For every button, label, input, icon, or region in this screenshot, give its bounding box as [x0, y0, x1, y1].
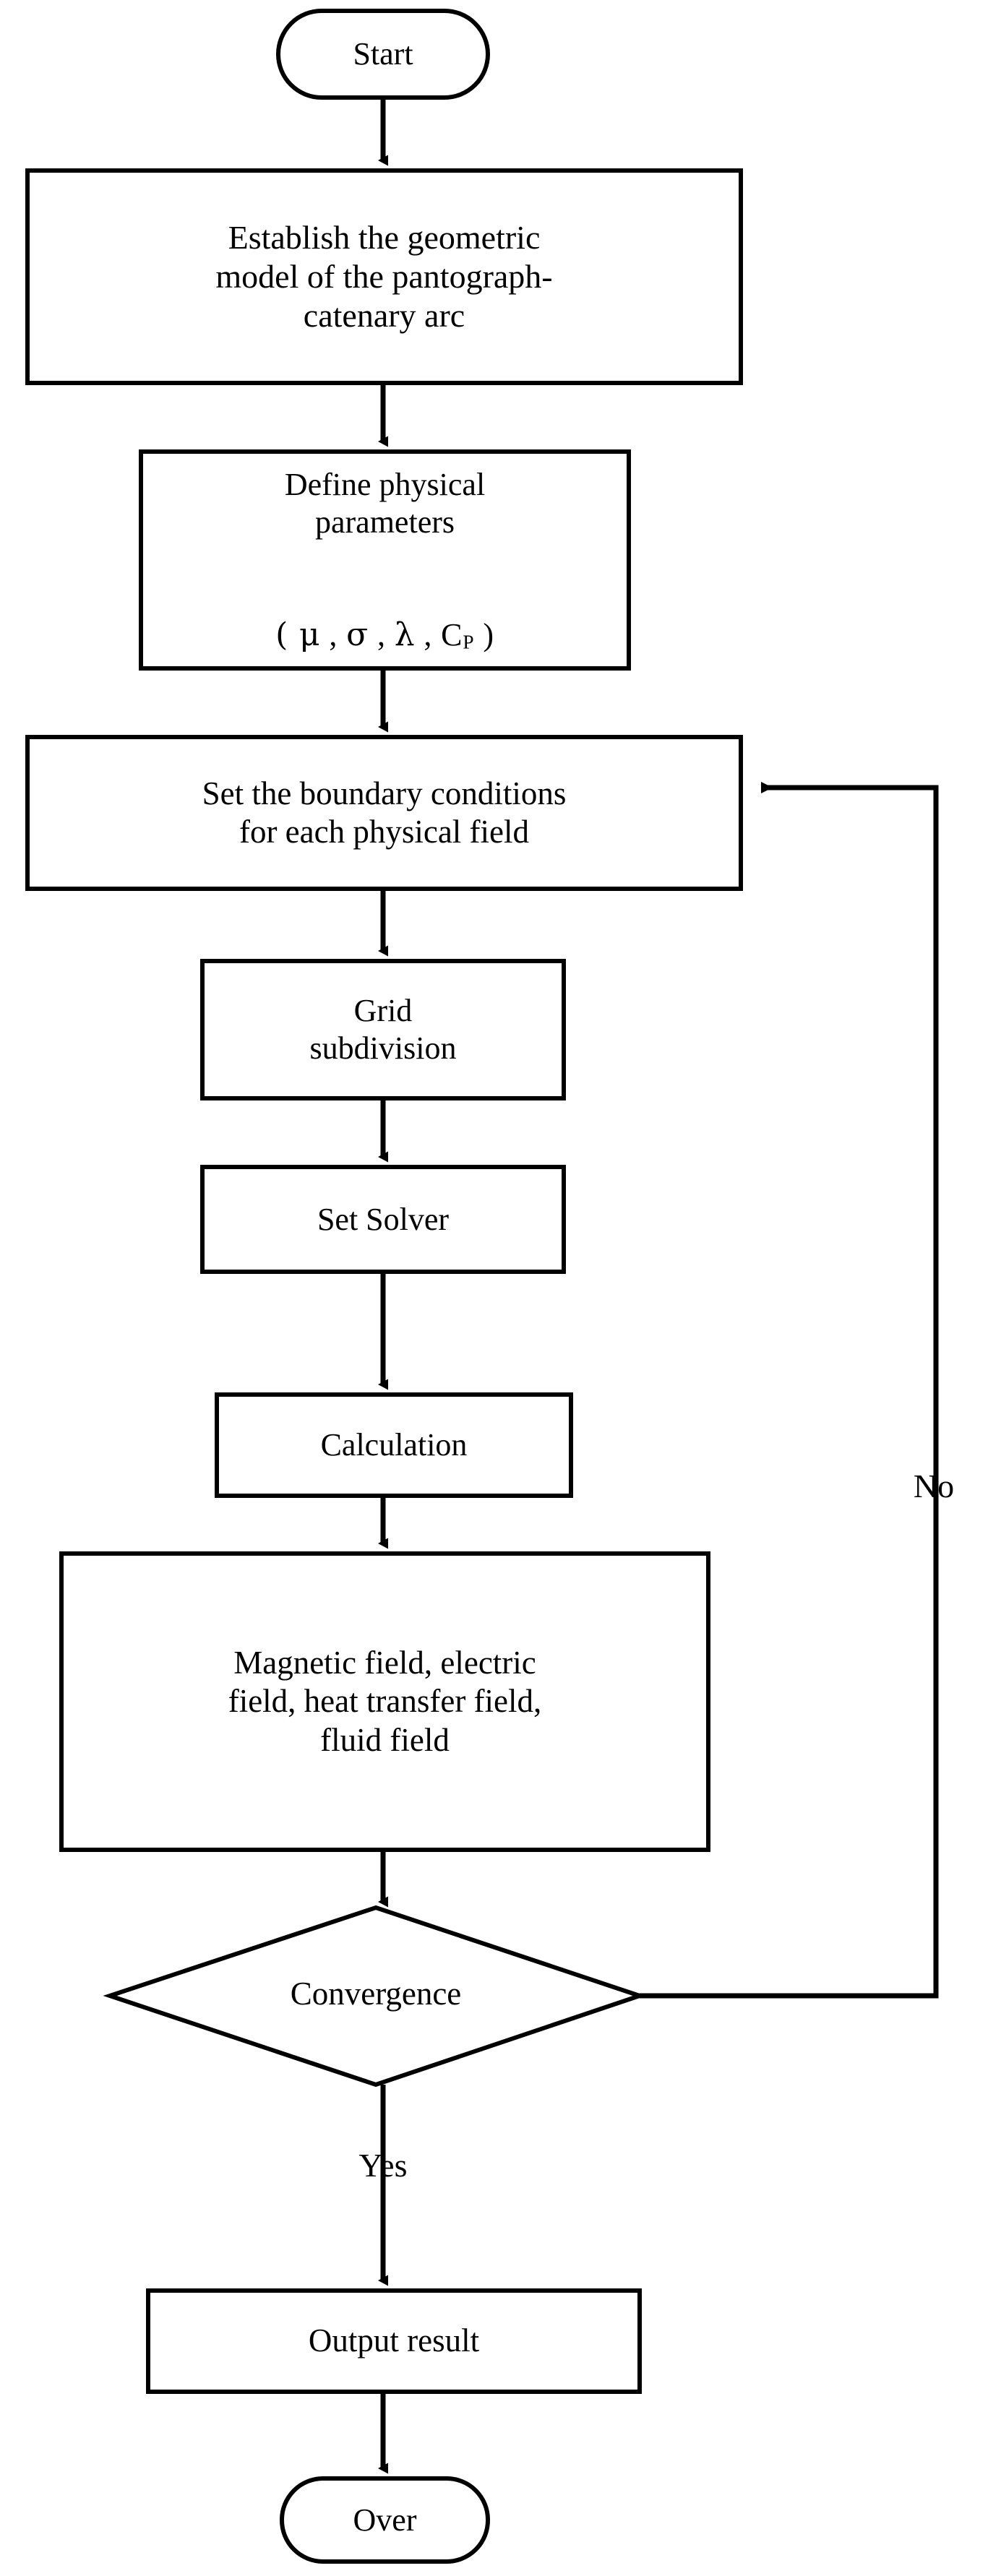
flowchart-canvas	[0, 0, 988, 2576]
edge-label-yes: Yes	[332, 2146, 434, 2184]
node-start	[278, 11, 488, 98]
node-fields	[61, 1554, 708, 1850]
node-set-solver	[202, 1167, 564, 1272]
edge-label-no: No	[890, 1467, 977, 1505]
node-grid-subdivision	[202, 961, 564, 1098]
node-over	[282, 2478, 488, 2562]
flowchart-page: Start Establish the geometric model of t…	[0, 0, 988, 2576]
node-convergence-decision	[110, 1908, 640, 2085]
node-boundary-conditions	[27, 737, 741, 889]
node-calculation	[217, 1395, 571, 1496]
node-define-parameters	[141, 452, 629, 668]
node-output-result	[148, 2291, 640, 2392]
node-establish	[27, 171, 741, 383]
